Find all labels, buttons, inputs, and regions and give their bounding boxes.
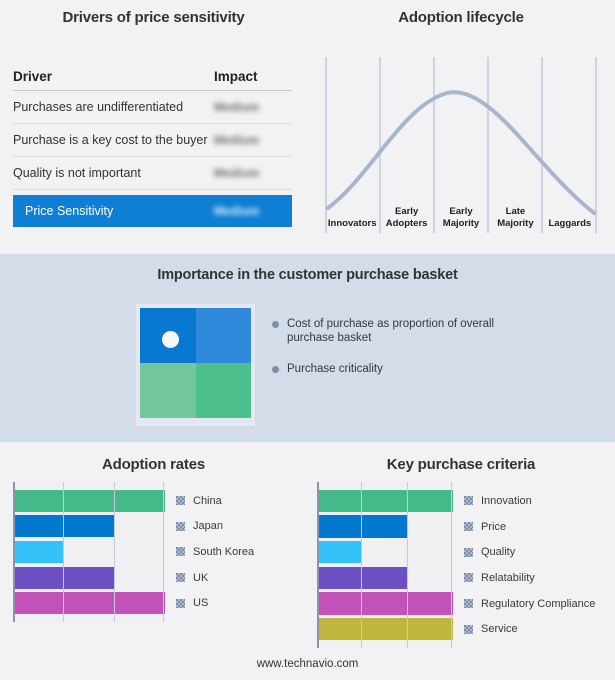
adoption-rates-plot-area — [13, 482, 165, 622]
key-purchase-criteria-plot-area — [317, 482, 453, 648]
bar-row — [13, 590, 165, 616]
bar-quality[interactable] — [317, 541, 362, 563]
gridline — [451, 482, 452, 648]
driver-impact: Medium — [214, 204, 292, 218]
legend-item[interactable]: UK — [176, 565, 293, 591]
drivers-panel: Drivers of price sensitivity Driver Impa… — [0, 0, 307, 254]
label-line1: Late — [506, 206, 526, 218]
quadrant-bottom-left[interactable] — [140, 363, 196, 418]
lifecycle-segment-laggards: Laggards — [543, 189, 597, 233]
legend-label: Service — [481, 623, 518, 635]
legend-label: Regulatory Compliance — [481, 598, 595, 610]
bullet-icon — [272, 366, 279, 373]
drivers-table: Driver Impact Purchases are undifferenti… — [13, 63, 292, 227]
table-header-row: Driver Impact — [13, 63, 292, 91]
lifecycle-segment-labels: Innovators Early Adopters Early Majority… — [325, 189, 597, 233]
bar-row — [317, 539, 453, 565]
adoption-rates-legend: ChinaJapanSouth KoreaUKUS — [176, 482, 293, 622]
legend-label: Purchase criticality — [287, 362, 383, 376]
quadrant-matrix — [140, 308, 251, 418]
legend-label: Price — [481, 521, 506, 533]
gridline — [407, 482, 408, 648]
adoption-rates-bars — [13, 488, 165, 616]
bar-china[interactable] — [13, 490, 165, 512]
label-line2: Adopters — [386, 218, 428, 230]
bar-relatability[interactable] — [317, 567, 408, 589]
bar-row — [13, 514, 165, 540]
label-line2: Majority — [443, 218, 479, 230]
legend-swatch-icon — [464, 573, 473, 582]
bar-row — [13, 539, 165, 565]
impact-value-redacted: Medium — [214, 204, 259, 218]
legend-swatch-icon — [464, 522, 473, 531]
legend-swatch-icon — [176, 522, 185, 531]
position-marker-dot-icon — [162, 331, 179, 348]
key-purchase-criteria-chart: InnovationPriceQualityRelatabilityRegula… — [317, 482, 607, 648]
legend-label: Relatability — [481, 572, 535, 584]
gridline — [163, 482, 164, 622]
table-row-highlighted-price-sensitivity[interactable]: Price Sensitivity Medium — [13, 195, 292, 227]
lifecycle-segment-innovators: Innovators — [325, 189, 379, 233]
y-axis-line — [317, 482, 319, 648]
bar-row — [13, 565, 165, 591]
legend-item[interactable]: Service — [464, 616, 607, 642]
bar-row — [317, 514, 453, 540]
table-row[interactable]: Quality is not important Medium — [13, 157, 292, 190]
legend-swatch-icon — [176, 496, 185, 505]
driver-name: Price Sensitivity — [25, 204, 214, 218]
legend-item: Purchase criticality — [272, 362, 522, 376]
gridline — [63, 482, 64, 622]
legend-item[interactable]: US — [176, 590, 293, 616]
column-header-impact: Impact — [214, 69, 292, 84]
label-line2: Innovators — [328, 218, 377, 230]
quadrant-bottom-right[interactable] — [196, 363, 252, 418]
bar-south-korea[interactable] — [13, 541, 63, 563]
legend-swatch-icon — [176, 573, 185, 582]
legend-swatch-icon — [464, 496, 473, 505]
gridline — [114, 482, 115, 622]
legend-label: UK — [193, 572, 208, 584]
legend-label: Quality — [481, 546, 515, 558]
drivers-title: Drivers of price sensitivity — [0, 9, 307, 26]
bar-regulatory-compliance[interactable] — [317, 592, 453, 614]
bar-us[interactable] — [13, 592, 165, 614]
purchase-basket-panel: Importance in the customer purchase bask… — [0, 254, 615, 442]
table-row[interactable]: Purchases are undifferentiated Medium — [13, 91, 292, 124]
legend-item[interactable]: Quality — [464, 539, 607, 565]
legend-swatch-icon — [176, 599, 185, 608]
legend-item[interactable]: Regulatory Compliance — [464, 591, 607, 617]
legend-item[interactable]: Innovation — [464, 488, 607, 514]
bar-row — [317, 591, 453, 617]
quadrant-matrix-frame — [136, 304, 255, 426]
key-purchase-criteria-title: Key purchase criteria — [307, 456, 615, 473]
lifecycle-segment-early-adopters: Early Adopters — [379, 189, 433, 233]
impact-value-redacted: Medium — [214, 133, 259, 147]
driver-name: Purchase is a key cost to the buyer — [13, 133, 214, 147]
legend-label: South Korea — [193, 546, 254, 558]
driver-impact: Medium — [214, 166, 292, 180]
bar-innovation[interactable] — [317, 490, 453, 512]
impact-value-redacted: Medium — [214, 100, 259, 114]
label-line2: Majority — [497, 218, 533, 230]
adoption-rates-chart: ChinaJapanSouth KoreaUKUS — [13, 482, 293, 622]
label-line1: Early — [449, 206, 472, 218]
label-line1: Early — [395, 206, 418, 218]
label-line2: Laggards — [548, 218, 591, 230]
footer-url: www.technavio.com — [0, 658, 615, 670]
legend-item[interactable]: South Korea — [176, 539, 293, 565]
legend-item[interactable]: Japan — [176, 514, 293, 540]
lifecycle-segment-early-majority: Early Majority — [434, 189, 488, 233]
driver-impact: Medium — [214, 133, 292, 147]
legend-item[interactable]: Price — [464, 514, 607, 540]
basket-legend: Cost of purchase as proportion of overal… — [272, 317, 522, 393]
legend-item[interactable]: Relatability — [464, 565, 607, 591]
adoption-rates-panel: Adoption rates ChinaJapanSouth KoreaUKUS — [0, 442, 307, 680]
adoption-lifecycle-panel: Adoption lifecycle Innovators Early Adop… — [307, 0, 615, 254]
bar-row — [317, 616, 453, 642]
bar-row — [13, 488, 165, 514]
bar-row — [317, 488, 453, 514]
legend-swatch-icon — [464, 548, 473, 557]
legend-label: Japan — [193, 520, 223, 532]
legend-label: Cost of purchase as proportion of overal… — [287, 317, 522, 345]
key-purchase-criteria-bars — [317, 488, 453, 642]
bar-price[interactable] — [317, 515, 408, 537]
table-row[interactable]: Purchase is a key cost to the buyer Medi… — [13, 124, 292, 157]
adoption-rates-title: Adoption rates — [0, 456, 307, 473]
driver-impact: Medium — [214, 100, 292, 114]
column-header-driver: Driver — [13, 69, 214, 84]
lifecycle-chart-area: Innovators Early Adopters Early Majority… — [325, 57, 597, 233]
driver-name: Quality is not important — [13, 166, 214, 180]
y-axis-line — [13, 482, 15, 622]
basket-title: Importance in the customer purchase bask… — [0, 267, 615, 283]
driver-name: Purchases are undifferentiated — [13, 100, 214, 114]
gridline — [361, 482, 362, 648]
impact-value-redacted: Medium — [214, 166, 259, 180]
lifecycle-segment-late-majority: Late Majority — [488, 189, 542, 233]
quadrant-top-right[interactable] — [196, 308, 252, 363]
bar-service[interactable] — [317, 618, 453, 640]
key-purchase-criteria-panel: Key purchase criteria InnovationPriceQua… — [307, 442, 615, 680]
legend-swatch-icon — [464, 625, 473, 634]
legend-label: US — [193, 597, 208, 609]
key-purchase-criteria-legend: InnovationPriceQualityRelatabilityRegula… — [464, 482, 607, 648]
lifecycle-title: Adoption lifecycle — [307, 9, 615, 26]
legend-item: Cost of purchase as proportion of overal… — [272, 317, 522, 345]
legend-label: China — [193, 495, 222, 507]
legend-swatch-icon — [464, 599, 473, 608]
legend-item[interactable]: China — [176, 488, 293, 514]
legend-label: Innovation — [481, 495, 532, 507]
bullet-icon — [272, 321, 279, 328]
legend-swatch-icon — [176, 547, 185, 556]
bar-row — [317, 565, 453, 591]
